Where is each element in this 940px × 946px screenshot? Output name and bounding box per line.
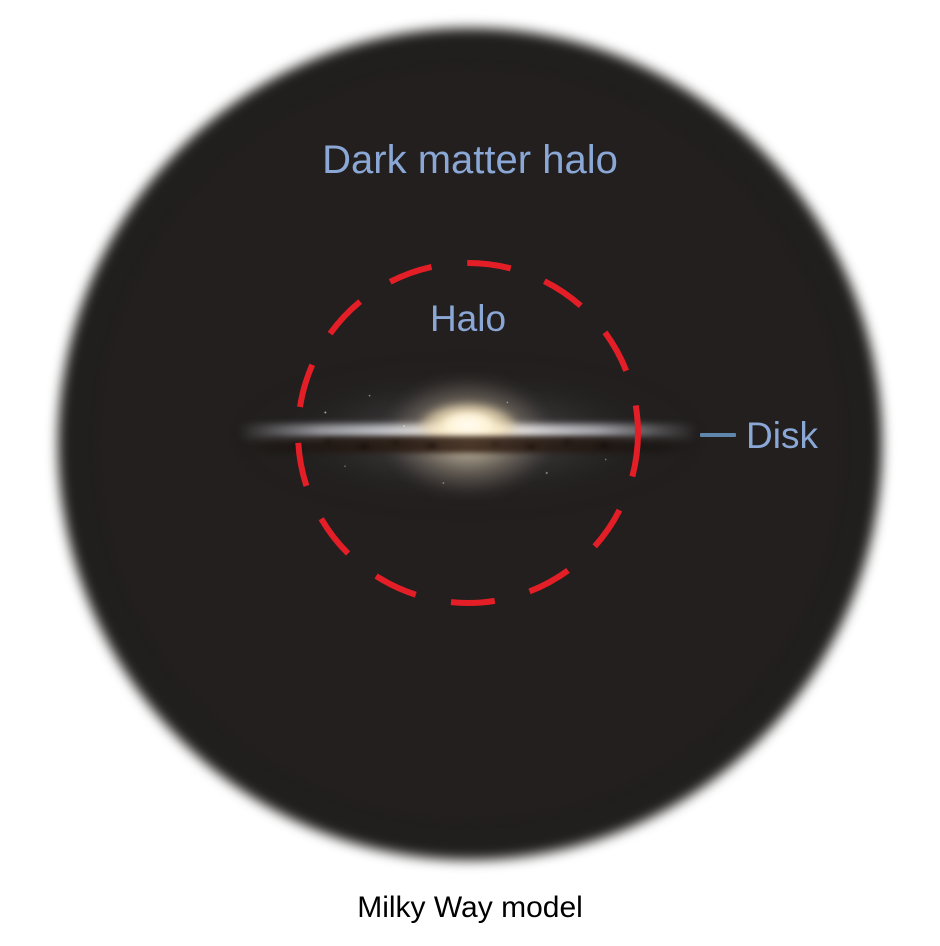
milky-way-model-figure: Dark matter halo Halo Disk Milky Way mod… [0,0,940,946]
label-dark-matter-halo: Dark matter halo [0,140,940,180]
figure-caption: Milky Way model [0,893,940,923]
label-halo: Halo [0,300,936,337]
label-disk: Disk [746,417,818,454]
foreground-stars [222,352,714,520]
galaxy-disk-image [222,352,714,520]
disk-leader-line [700,433,736,437]
